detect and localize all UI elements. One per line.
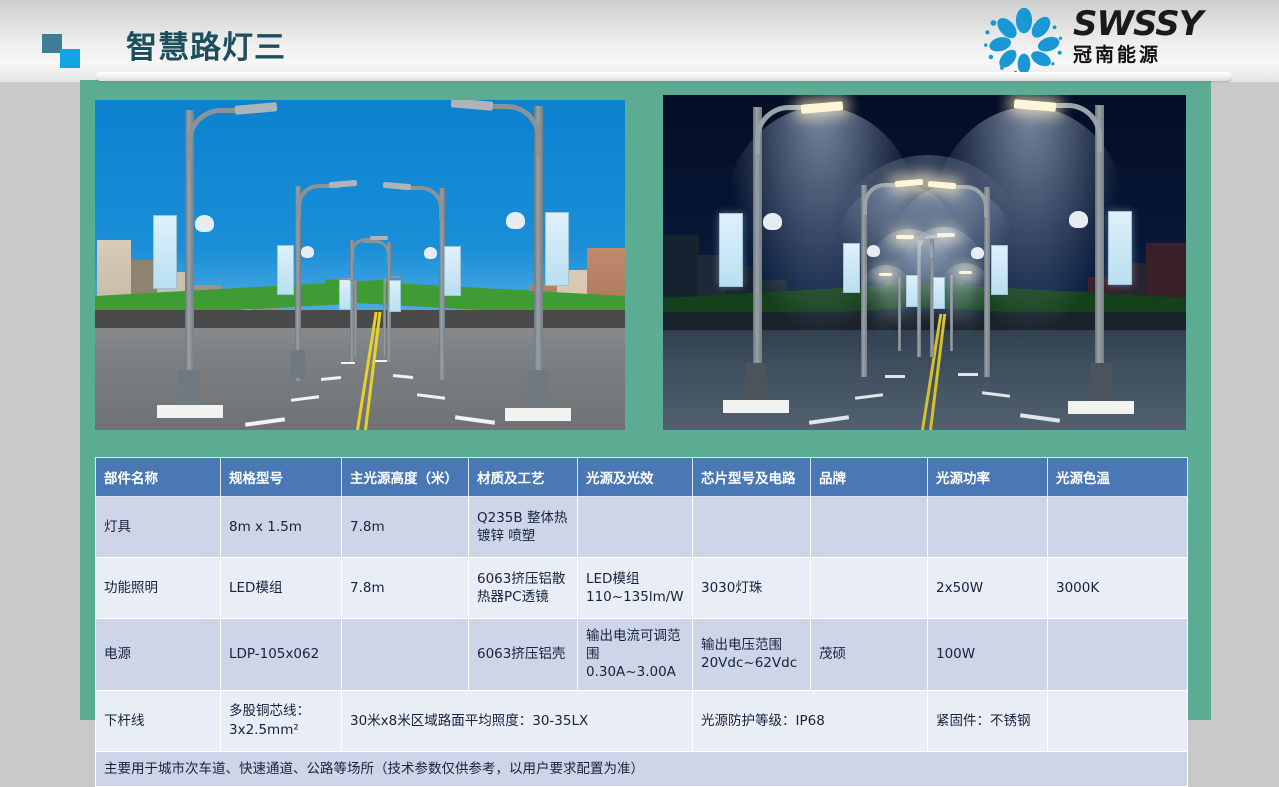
lamp-arm xyxy=(863,183,905,215)
pole-cabinet xyxy=(1090,363,1112,405)
pole-banner xyxy=(991,245,1008,295)
cctv-camera xyxy=(301,246,314,258)
footer-note: 主要用于城市次车道、快速通道、公路等场所（技术参数仅供参考，以用户要求配置为准） xyxy=(96,751,1188,786)
cctv-camera xyxy=(971,247,984,259)
cell-material: Q235B 整体热镀锌 喷塑 xyxy=(469,497,578,558)
cell-model: 8m x 1.5m xyxy=(221,497,342,558)
header-accent-square-dark xyxy=(42,34,62,53)
pole-banner xyxy=(444,246,461,296)
pole-banner xyxy=(545,212,569,286)
pole-base xyxy=(723,400,789,413)
col-header-light-height: 主光源高度（米） xyxy=(342,458,469,497)
cctv-camera xyxy=(424,247,437,259)
brand-logo: SWSSY 冠南能源 xyxy=(973,2,1263,78)
header-divider-bar xyxy=(96,72,1232,81)
cell-material: 6063挤压铝散热器PC透镜 xyxy=(469,558,578,619)
cell-part-name: 功能照明 xyxy=(96,558,221,619)
col-header-chip-circuit: 芯片型号及电路 xyxy=(693,458,811,497)
cell-source-efficacy xyxy=(578,497,693,558)
spec-table: 部件名称 规格型号 主光源高度（米） 材质及工艺 光源及光效 芯片型号及电路 品… xyxy=(95,457,1188,787)
col-header-color-temp: 光源色温 xyxy=(1048,458,1188,497)
streetlight-daytime-render xyxy=(95,100,625,430)
pole-banner xyxy=(843,243,860,293)
header-accent-square-light xyxy=(60,49,80,68)
pole-base xyxy=(157,405,223,418)
pole-banner xyxy=(277,245,294,295)
table-row: 下杆线 多股铜芯线：3x2.5mm² 30米x8米区域路面平均照度：30-35L… xyxy=(96,690,1188,751)
brand-name: SWSSY xyxy=(1073,5,1259,43)
brand-text: SWSSY 冠南能源 xyxy=(1073,5,1259,67)
streetlight-nighttime-render xyxy=(663,95,1186,430)
col-header-part-name: 部件名称 xyxy=(96,458,221,497)
pole-banner xyxy=(153,215,177,289)
pole-banner xyxy=(389,280,401,312)
table-header-row: 部件名称 规格型号 主光源高度（米） 材质及工艺 光源及光效 芯片型号及电路 品… xyxy=(96,458,1188,497)
cell-illuminance: 30米x8米区域路面平均照度：30-35LX xyxy=(342,690,693,751)
lane-dash xyxy=(958,373,978,376)
cell-part-name: 下杆线 xyxy=(96,690,221,751)
cell-light-height: 7.8m xyxy=(342,497,469,558)
cell-model: LED模组 xyxy=(221,558,342,619)
page-title: 智慧路灯三 xyxy=(126,22,286,67)
cctv-camera xyxy=(195,215,214,232)
cell-chip-circuit xyxy=(693,497,811,558)
table-row: 电源 LDP-105x062 6063挤压铝壳 输出电流可调范围0.30A~3.… xyxy=(96,619,1188,691)
brand-subtitle: 冠南能源 xyxy=(1073,43,1259,67)
table-row: 功能照明 LED模组 7.8m 6063挤压铝散热器PC透镜 LED模组 110… xyxy=(96,558,1188,619)
lamp-arm xyxy=(339,278,356,292)
cell-part-name: 电源 xyxy=(96,619,221,691)
luminaire-lit xyxy=(896,235,914,239)
col-header-model: 规格型号 xyxy=(221,458,342,497)
cell-power: 2x50W xyxy=(928,558,1048,619)
cell-protection: 光源防护等级：IP68 xyxy=(693,690,928,751)
lane-dash xyxy=(885,375,905,378)
cell-source-efficacy: 输出电流可调范围0.30A~3.00A xyxy=(578,619,693,691)
cell-model: LDP-105x062 xyxy=(221,619,342,691)
cell-chip-circuit: 输出电压范围20Vdc~62Vdc xyxy=(693,619,811,691)
cell-material: 6063挤压铝壳 xyxy=(469,619,578,691)
cell-brand xyxy=(811,497,928,558)
pole-cabinet xyxy=(527,370,549,412)
cell-color-temp xyxy=(1048,619,1188,691)
cctv-camera xyxy=(763,213,782,230)
pole-banner xyxy=(933,277,945,309)
cell-part-name: 灯具 xyxy=(96,497,221,558)
water-drop-burst-icon xyxy=(981,6,1067,74)
cell-fastener: 紧固件：不锈钢 xyxy=(928,690,1048,751)
pole-base xyxy=(1068,401,1134,414)
cell-power: 100W xyxy=(928,619,1048,691)
col-header-material: 材质及工艺 xyxy=(469,458,578,497)
cell-color-temp xyxy=(1048,497,1188,558)
lamp-arm xyxy=(297,184,339,218)
pole-cabinet xyxy=(178,370,200,410)
cell-trailing xyxy=(1048,690,1188,751)
cell-brand xyxy=(811,558,928,619)
col-header-brand: 品牌 xyxy=(811,458,928,497)
lamp-pole xyxy=(898,277,901,351)
pole-banner xyxy=(719,213,743,287)
lamp-arm xyxy=(363,240,390,261)
cell-wire-spec: 多股铜芯线：3x2.5mm² xyxy=(221,690,342,751)
page-header: 智慧路灯三 SWSSY 冠南能源 xyxy=(0,0,1279,82)
luminaire-lit xyxy=(879,273,892,276)
pole-cabinet xyxy=(291,350,305,378)
col-header-power: 光源功率 xyxy=(928,458,1048,497)
pole-base xyxy=(505,408,571,421)
cell-light-height xyxy=(342,619,469,691)
col-header-source-efficacy: 光源及光效 xyxy=(578,458,693,497)
road-shoulder xyxy=(95,310,625,328)
cell-chip-circuit: 3030灯珠 xyxy=(693,558,811,619)
cell-power xyxy=(928,497,1048,558)
cell-source-efficacy: LED模组 110~135lm/W xyxy=(578,558,693,619)
cctv-camera xyxy=(506,212,525,229)
spec-table-wrapper: 部件名称 规格型号 主光源高度（米） 材质及工艺 光源及光效 芯片型号及电路 品… xyxy=(95,457,1187,787)
lane-dash xyxy=(341,362,355,364)
table-footer-row: 主要用于城市次车道、快速通道、公路等场所（技术参数仅供参考，以用户要求配置为准） xyxy=(96,751,1188,786)
table-row: 灯具 8m x 1.5m 7.8m Q235B 整体热镀锌 喷塑 xyxy=(96,497,1188,558)
cell-color-temp: 3000K xyxy=(1048,558,1188,619)
light-glow xyxy=(856,265,916,341)
pole-banner xyxy=(1108,211,1132,285)
lamp-arm xyxy=(906,237,933,258)
pole-cabinet xyxy=(745,363,767,405)
cctv-camera xyxy=(1069,211,1088,228)
cell-brand: 茂硕 xyxy=(811,619,928,691)
cell-light-height: 7.8m xyxy=(342,558,469,619)
